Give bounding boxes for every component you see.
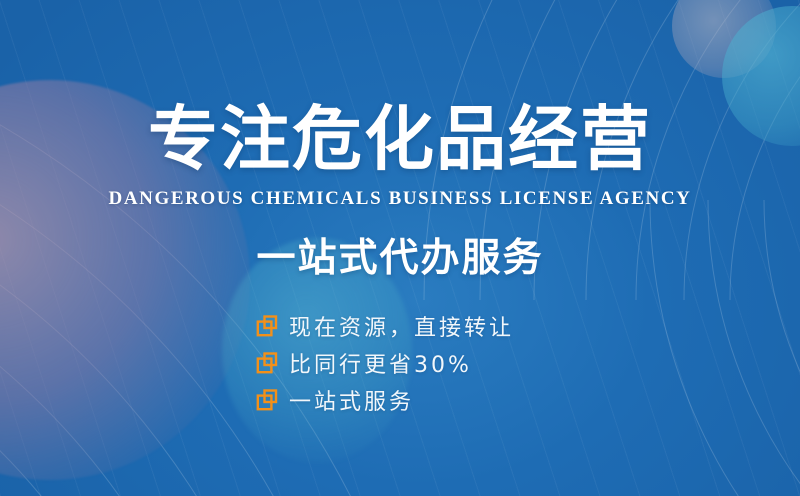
promo-banner: 专注危化品经营 DANGEROUS CHEMICALS BUSINESS LIC… [0,0,800,496]
overlapping-squares-icon [256,389,278,411]
list-item-label: 现在资源，直接转让 [289,310,514,342]
banner-english-subtitle: DANGEROUS CHEMICALS BUSINESS LICENSE AGE… [109,188,692,210]
list-item: 比同行更省30% [256,348,514,377]
banner-secondary-headline: 一站式代办服务 [256,227,543,283]
list-item-label: 比同行更省30% [289,347,472,379]
banner-headline: 专注危化品经营 [148,104,652,174]
list-item-label: 一站式服务 [289,384,414,416]
overlapping-squares-icon [256,352,278,374]
list-item: 现在资源，直接转让 [256,311,514,340]
list-item: 一站式服务 [256,385,514,414]
benefit-list: 现在资源，直接转让 比同行更省30% 一站式 [256,311,514,414]
overlapping-squares-icon [256,315,278,337]
banner-content: 专注危化品经营 DANGEROUS CHEMICALS BUSINESS LIC… [0,0,800,496]
